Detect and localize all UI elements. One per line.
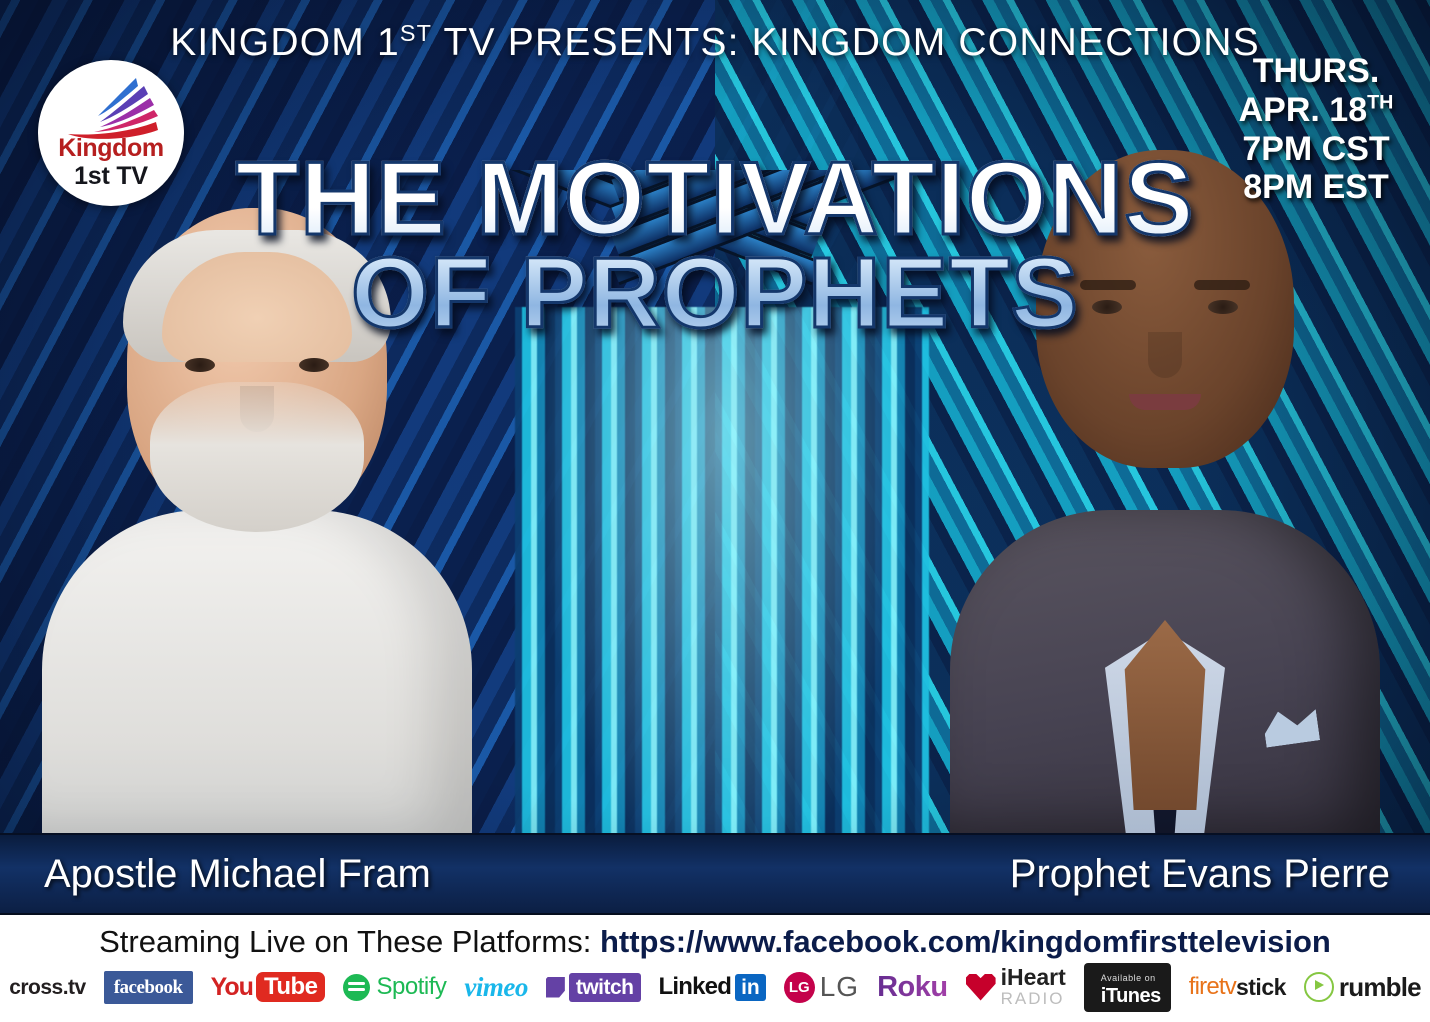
vimeo-wordmark: vimeo	[464, 974, 527, 1001]
schedule-day: THURS.	[1226, 52, 1406, 91]
platform-twitch[interactable]: twitch	[546, 973, 641, 1002]
speaker-right-suit	[950, 510, 1380, 840]
platform-logo-row: cross.tv facebook You Tube Spotify vimeo…	[0, 962, 1430, 1012]
speaker-left-torso	[42, 510, 472, 840]
schedule-block: THURS. APR. 18TH 7PM CST 8PM EST	[1226, 52, 1406, 207]
rumble-wordmark: rumble	[1339, 974, 1421, 1000]
page-title: THE MOTIVATIONS OF PROPHETS	[0, 152, 1430, 340]
event-flyer: Kingdom 1st TV KINGDOM 1ST TV PRESENTS: …	[0, 0, 1430, 1022]
platform-roku[interactable]: Roku	[877, 973, 948, 1002]
platform-spotify[interactable]: Spotify	[343, 974, 446, 1001]
youtube-word-tube: Tube	[256, 972, 326, 1002]
streaming-line: Streaming Live on These Platforms: https…	[0, 925, 1430, 959]
platform-youtube[interactable]: You Tube	[211, 972, 326, 1002]
facebook-wordmark: facebook	[104, 971, 193, 1004]
presents-suffix: TV PRESENTS: KINGDOM CONNECTIONS	[432, 21, 1260, 64]
speaker-name-left: Apostle Michael Fram	[44, 854, 431, 894]
twitch-wordmark: twitch	[569, 973, 641, 1002]
firetv-word: firetv	[1189, 975, 1236, 999]
speaker-right-pocket-square	[1262, 706, 1320, 747]
presents-ordinal-sup: ST	[400, 20, 432, 46]
schedule-time-cst: 7PM CST	[1226, 130, 1406, 169]
crosstv-wordmark: cross.tv	[9, 977, 86, 998]
roku-wordmark: Roku	[877, 973, 948, 1002]
platform-lg[interactable]: LG LG	[784, 972, 859, 1003]
spotify-wordmark: Spotify	[376, 975, 446, 999]
stick-word: stick	[1236, 976, 1286, 999]
iheart-word-iheart: iHeart	[1001, 964, 1066, 990]
youtube-word-you: You	[211, 975, 253, 1000]
footer: Streaming Live on These Platforms: https…	[0, 915, 1430, 1022]
platform-vimeo[interactable]: vimeo	[464, 974, 527, 1001]
lg-icon: LG	[784, 972, 815, 1003]
twitch-icon	[546, 977, 565, 998]
itunes-available-on: Available on	[1101, 973, 1156, 983]
platform-firetvstick[interactable]: firetv stick	[1189, 975, 1286, 999]
schedule-time-est: 8PM EST	[1226, 168, 1406, 207]
linkedin-icon: in	[735, 974, 766, 1001]
platform-facebook[interactable]: facebook	[104, 971, 193, 1004]
speaker-left-eye-right	[299, 358, 329, 372]
rumble-play-icon	[1304, 972, 1334, 1002]
platform-itunes[interactable]: Available on iTunes	[1084, 963, 1171, 1012]
platform-linkedin[interactable]: Linked in	[659, 974, 766, 1001]
presents-prefix: KINGDOM 1	[170, 21, 400, 64]
schedule-date: APR. 18TH	[1226, 91, 1406, 130]
platform-rumble[interactable]: rumble	[1304, 972, 1421, 1002]
streaming-label: Streaming Live on These Platforms:	[99, 924, 600, 959]
linkedin-word-linked: Linked	[659, 975, 732, 999]
schedule-date-prefix: APR. 18	[1239, 91, 1368, 129]
spotify-icon	[343, 974, 370, 1001]
speaker-name-bar: Apostle Michael Fram Prophet Evans Pierr…	[0, 833, 1430, 915]
platform-iheartradio[interactable]: iHeart RADIO	[966, 966, 1066, 1009]
speaker-name-right: Prophet Evans Pierre	[1010, 854, 1390, 894]
speaker-right-mouth	[1129, 394, 1201, 410]
iheart-heart-icon	[966, 974, 996, 1001]
platform-crosstv[interactable]: cross.tv	[9, 977, 86, 998]
itunes-wordmark: iTunes	[1101, 985, 1161, 1007]
schedule-date-sup: TH	[1367, 91, 1393, 113]
title-line-2: OF PROPHETS	[0, 247, 1430, 339]
streaming-url[interactable]: https://www.facebook.com/kingdomfirsttel…	[600, 924, 1331, 959]
presents-line: KINGDOM 1ST TV PRESENTS: KINGDOM CONNECT…	[0, 22, 1430, 62]
speaker-left-eye-left	[185, 358, 215, 372]
iheart-word-radio: RADIO	[1001, 989, 1065, 1008]
lg-wordmark: LG	[820, 973, 859, 1001]
speaker-left-beard	[150, 382, 364, 532]
